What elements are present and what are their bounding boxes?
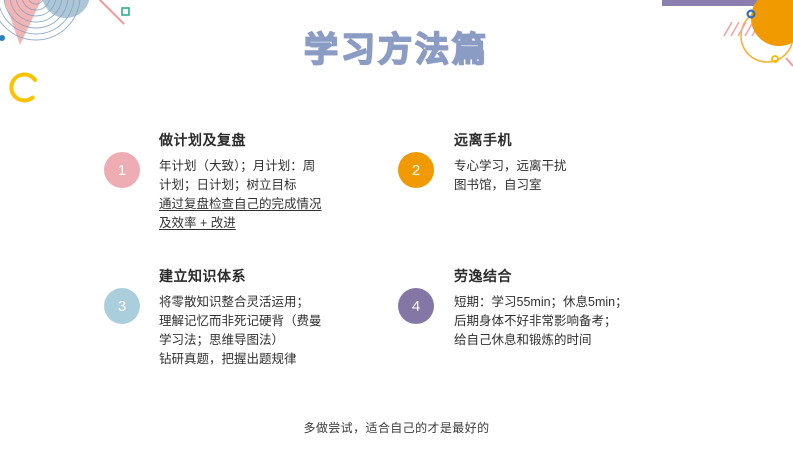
item-lines-3: 将零散知识整合灵活运用； 理解记忆而非死记硬背（费曼 学习法；思维导图法） 钻研… — [159, 293, 322, 369]
item-line: 专心学习，远离干扰 — [454, 157, 567, 176]
item-line: 通过复盘检查自己的完成情况 — [159, 195, 322, 214]
item-body-3: 建立知识体系 将零散知识整合灵活运用； 理解记忆而非死记硬背（费曼 学习法；思维… — [159, 266, 322, 369]
slide-canvas: 学习方法篇 1 做计划及复盘 年计划（大致）；月计划：周 计划；日计划；树立目标… — [0, 0, 793, 450]
item-heading-2: 远离手机 — [454, 130, 567, 150]
pink-diagonal-line-shape — [96, 0, 124, 24]
item-line: 给自己休息和锻炼的时间 — [454, 331, 628, 350]
item-line: 将零散知识整合灵活运用； — [159, 293, 322, 312]
footer-note: 多做尝试，适合自己的才是最好的 — [0, 419, 793, 436]
item-line: 年计划（大致）；月计划：周 — [159, 157, 322, 176]
item-line: 钻研真题，把握出题规律 — [159, 350, 322, 369]
item-heading-4: 劳逸结合 — [454, 266, 628, 286]
item-lines-2: 专心学习，远离干扰 图书馆，自习室 — [454, 157, 567, 195]
item-heading-1: 做计划及复盘 — [159, 130, 322, 150]
item-line: 理解记忆而非死记硬背（费曼 — [159, 312, 322, 331]
item-line: 图书馆，自习室 — [454, 176, 567, 195]
step-badge-3: 3 — [104, 288, 140, 324]
item-body-1: 做计划及复盘 年计划（大致）；月计划：周 计划；日计划；树立目标 通过复盘检查自… — [159, 130, 322, 233]
step-badge-4: 4 — [398, 288, 434, 324]
blue-gray-semicircle-shape — [42, 0, 90, 18]
item-body-4: 劳逸结合 短期：学习55min；休息5min； 后期身体不好非常影响备考； 给自… — [454, 266, 628, 350]
item-line: 计划；日计划；树立目标 — [159, 176, 322, 195]
step-badge-2: 2 — [398, 152, 434, 188]
page-title: 学习方法篇 — [0, 22, 793, 71]
item-heading-3: 建立知识体系 — [159, 266, 322, 286]
step-badge-1: 1 — [104, 152, 140, 188]
item-body-2: 远离手机 专心学习，远离干扰 图书馆，自习室 — [454, 130, 567, 195]
item-line: 学习法；思维导图法） — [159, 331, 322, 350]
item-lines-1: 年计划（大致）；月计划：周 计划；日计划；树立目标 通过复盘检查自己的完成情况 … — [159, 157, 322, 233]
item-lines-4: 短期：学习55min；休息5min； 后期身体不好非常影响备考； 给自己休息和锻… — [454, 293, 628, 350]
item-line: 后期身体不好非常影响备考； — [454, 312, 628, 331]
item-line: 及效率 + 改进 — [159, 214, 322, 233]
blue-ring-dot-shape — [748, 11, 755, 18]
green-square-outline-shape — [122, 8, 129, 15]
yellow-arc-shape — [6, 69, 42, 105]
item-line: 短期：学习55min；休息5min； — [454, 293, 628, 312]
